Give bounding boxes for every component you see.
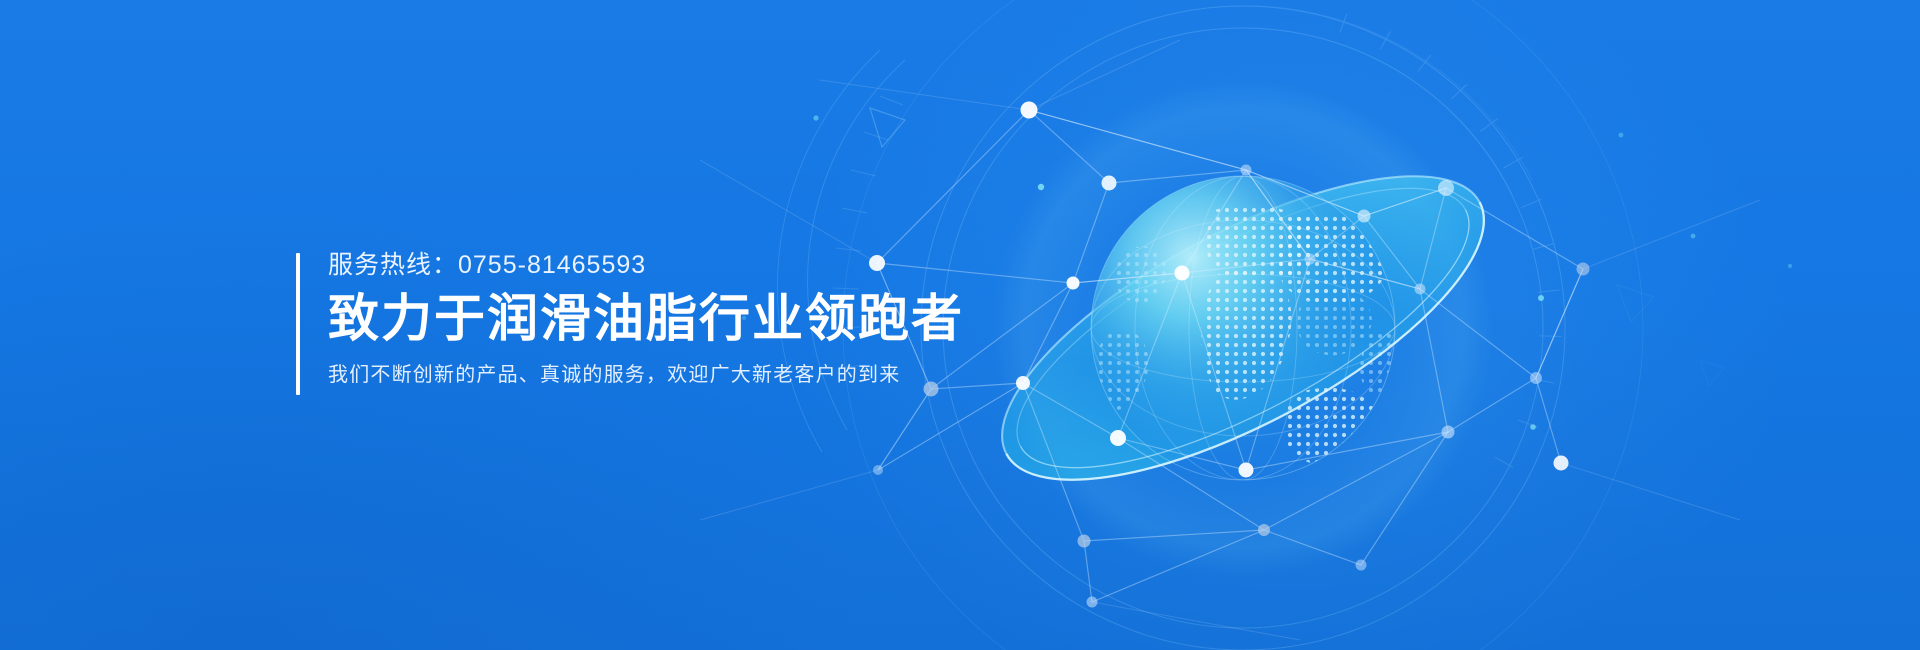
hero-text-block: 服务热线：0755-81465593 致力于润滑油脂行业领跑者 我们不断创新的产… — [296, 248, 964, 390]
hero-banner: 服务热线：0755-81465593 致力于润滑油脂行业领跑者 我们不断创新的产… — [0, 0, 1920, 650]
accent-bar — [296, 253, 300, 395]
hero-subheadline: 我们不断创新的产品、真诚的服务，欢迎广大新老客户的到来 — [328, 360, 964, 390]
service-hotline: 服务热线：0755-81465593 — [328, 248, 964, 282]
hero-headline: 致力于润滑油脂行业领跑者 — [328, 286, 964, 352]
